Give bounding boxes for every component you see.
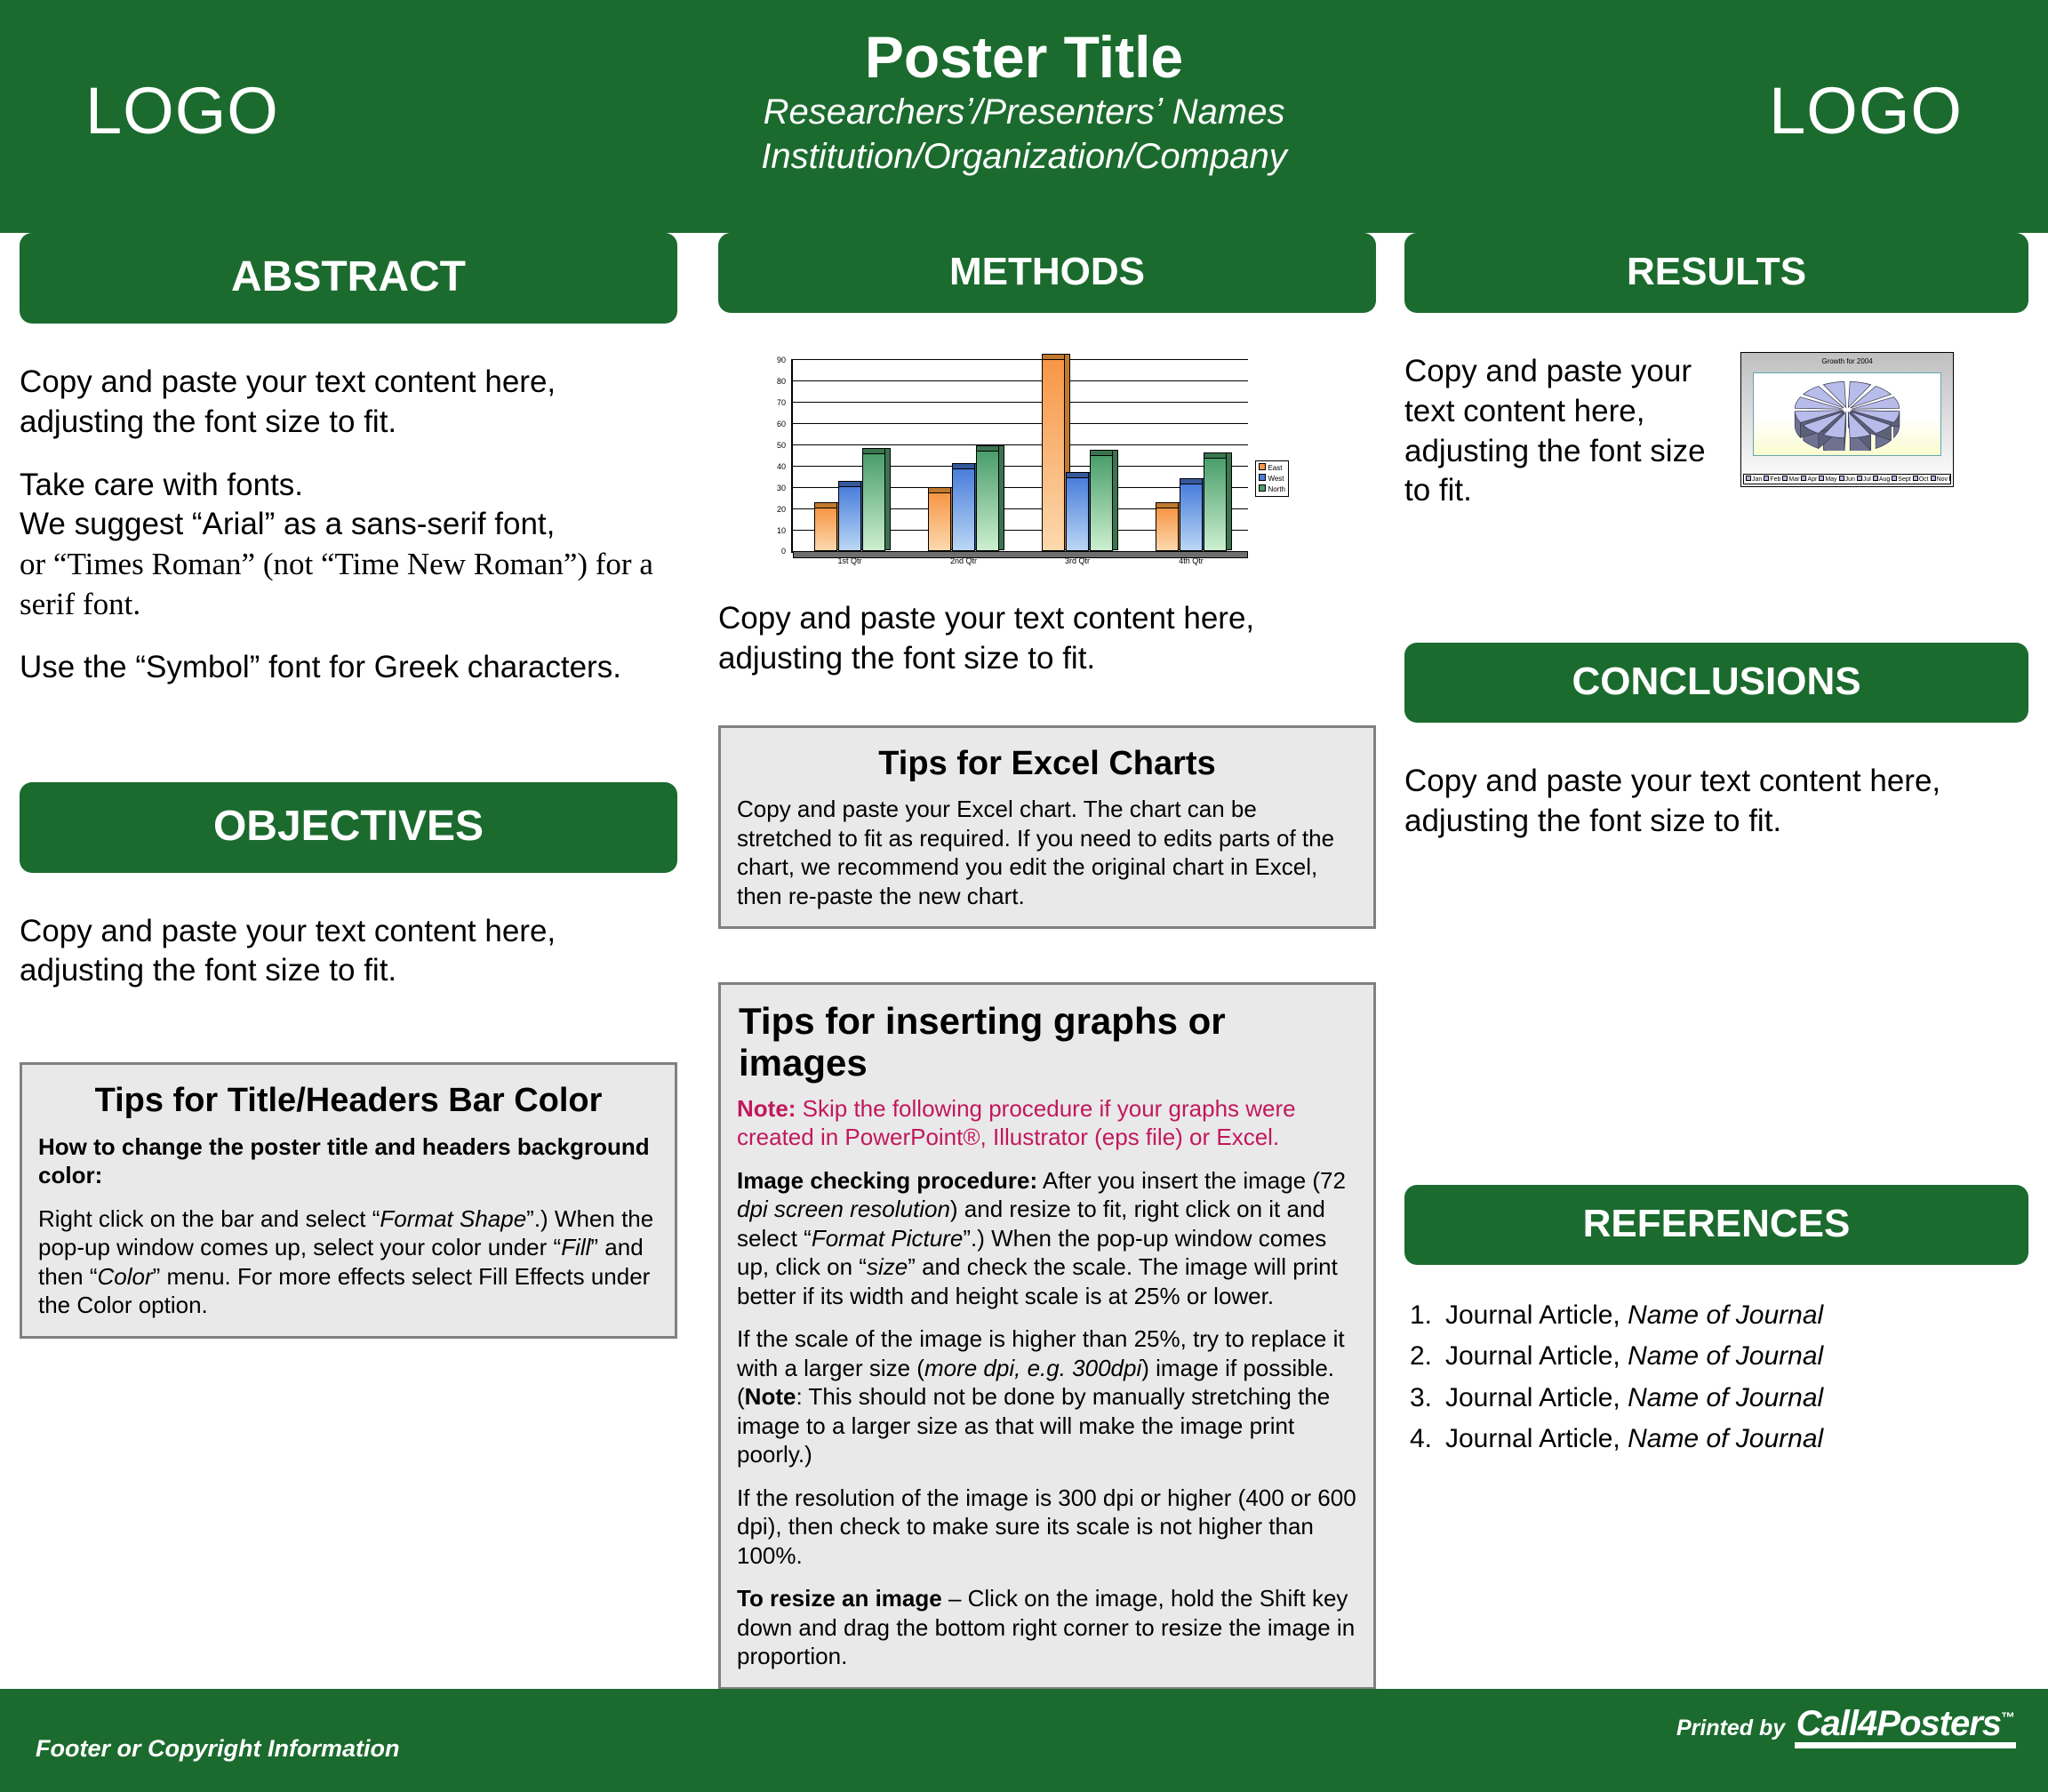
tips-title-bar-color-box: Tips for Title/Headers Bar Color How to … xyxy=(20,1062,677,1339)
p4-label: To resize an image xyxy=(737,1585,942,1612)
reference-journal-name: Name of Journal xyxy=(1628,1383,1823,1412)
reference-text: Journal Article, xyxy=(1445,1383,1628,1412)
tips-resize-paragraph: To resize an image – Click on the image,… xyxy=(737,1584,1357,1671)
bar-group: 1st Qtr xyxy=(793,359,907,551)
note-label: Note: xyxy=(737,1095,796,1122)
pie-chart-plot-area xyxy=(1753,372,1941,456)
poster-title[interactable]: Poster Title xyxy=(0,25,2048,91)
reference-number: 3. xyxy=(1410,1378,1432,1420)
tips-graphs-note: Note: Skip the following procedure if yo… xyxy=(737,1094,1357,1152)
abstract-fonts-line-3: or “Times Roman” (not “Time New Roman”) … xyxy=(20,547,653,621)
printed-by-label: Printed by xyxy=(1676,1716,1785,1740)
bar-north[interactable] xyxy=(1204,458,1227,551)
printed-by-block: Printed by Call4Posters™ xyxy=(1676,1705,2016,1748)
tips-excel-charts-heading: Tips for Excel Charts xyxy=(737,746,1357,783)
abstract-paragraph-3[interactable]: Use the “Symbol” font for Greek characte… xyxy=(20,648,677,688)
bar-east[interactable] xyxy=(814,508,837,551)
conclusions-paragraph-1[interactable]: Copy and paste your text content here, a… xyxy=(1404,762,2028,842)
y-tick-label: 30 xyxy=(777,484,786,492)
reference-number: 1. xyxy=(1410,1295,1432,1337)
legend-label: Nov xyxy=(1937,476,1948,483)
tips-title-bar-color-body: Right click on the bar and select “Forma… xyxy=(38,1204,659,1320)
y-tick-label: 90 xyxy=(777,356,786,364)
bar-groups: 1st Qtr2nd Qtr3rd Qtr4th Qtr xyxy=(793,359,1248,551)
abstract-fonts-line-2: We suggest “Arial” as a sans-serif font, xyxy=(20,507,555,541)
tip-seg-a: Right click on the bar and select “ xyxy=(38,1205,380,1232)
methods-chart-area: 90 80 70 60 50 40 30 20 10 0 1st Qtr2nd … xyxy=(718,347,1376,594)
x-tick-label: 4th Qtr xyxy=(1134,556,1248,565)
institution-name[interactable]: Institution/Organization/Company xyxy=(0,135,2048,180)
bar-group: 2nd Qtr xyxy=(907,359,1020,551)
pie-3d-graphic xyxy=(1781,378,1913,451)
bar-side-face xyxy=(1226,452,1232,550)
references-list: 1.Journal Article, Name of Journal2.Jour… xyxy=(1404,1295,2028,1460)
results-content-row: Copy and paste your text content here, a… xyxy=(1404,352,2028,511)
column-right: RESULTS Copy and paste your text content… xyxy=(1404,233,2028,1460)
note-body: Skip the following procedure if your gra… xyxy=(737,1095,1296,1151)
tips-resolution-paragraph: If the resolution of the image is 300 dp… xyxy=(737,1484,1357,1571)
legend-label: East xyxy=(1268,464,1282,472)
methods-caption[interactable]: Copy and paste your text content here, a… xyxy=(718,599,1376,679)
legend-label: Jan xyxy=(1752,476,1762,483)
results-chart-area: Growth for 2004 JanFebMarAprMayJunJulAug… xyxy=(1740,352,1954,487)
legend-swatch-icon xyxy=(1764,476,1769,481)
tips-image-checking-procedure: Image checking procedure: After you inse… xyxy=(737,1166,1357,1311)
p1-i2: Format Picture xyxy=(812,1225,964,1252)
legend-swatch-icon xyxy=(1782,476,1788,481)
bar-chart[interactable]: 90 80 70 60 50 40 30 20 10 0 1st Qtr2nd … xyxy=(736,347,1287,587)
column-middle: METHODS 90 80 70 60 50 40 30 20 10 0 1st… xyxy=(718,233,1376,1690)
p2-i1: more dpi, e.g. 300dpi xyxy=(924,1355,1141,1381)
bar-west[interactable] xyxy=(1180,484,1203,551)
abstract-paragraph-1[interactable]: Copy and paste your text content here, a… xyxy=(20,363,677,443)
tips-title-bar-color-heading: Tips for Title/Headers Bar Color xyxy=(38,1083,659,1120)
legend-label: Jun xyxy=(1845,476,1855,483)
tips-excel-charts-box: Tips for Excel Charts Copy and paste you… xyxy=(718,725,1376,930)
footer-copyright-text[interactable]: Footer or Copyright Information xyxy=(36,1735,399,1763)
abstract-fonts-line-1: Take care with fonts. xyxy=(20,468,303,502)
legend-swatch-icon xyxy=(1259,484,1266,492)
tips-scale-paragraph: If the scale of the image is higher than… xyxy=(737,1324,1357,1469)
legend-swatch-icon xyxy=(1801,476,1806,481)
researchers-names[interactable]: Researchersʼ/Presentersʼ Names xyxy=(0,91,2048,135)
legend-label: North xyxy=(1268,485,1285,493)
y-tick-label: 80 xyxy=(777,377,786,386)
reference-item[interactable]: 4.Journal Article, Name of Journal xyxy=(1404,1419,2028,1460)
legend-swatch-icon xyxy=(1949,476,1951,481)
reference-item[interactable]: 2.Journal Article, Name of Journal xyxy=(1404,1336,2028,1378)
title-block: Poster Title Researchersʼ/Presentersʼ Na… xyxy=(0,25,2048,179)
legend-swatch-icon xyxy=(1913,476,1918,481)
bar-chart-plot-area: 90 80 70 60 50 40 30 20 10 0 1st Qtr2nd … xyxy=(791,359,1248,553)
y-tick-label: 20 xyxy=(777,505,786,514)
trademark-symbol: ™ xyxy=(2001,1711,2014,1726)
reference-text: Journal Article, xyxy=(1445,1341,1628,1371)
tips-title-bar-color-lead: How to change the poster title and heade… xyxy=(38,1132,659,1190)
legend-swatch-icon xyxy=(1892,476,1897,481)
bar-north[interactable] xyxy=(1090,455,1113,551)
section-header-abstract[interactable]: ABSTRACT xyxy=(20,233,677,324)
legend-label: May xyxy=(1825,476,1836,483)
abstract-paragraph-2[interactable]: Take care with fonts. We suggest “Arial”… xyxy=(20,466,677,625)
legend-label: Oct xyxy=(1919,476,1929,483)
legend-entry-north: North xyxy=(1259,484,1285,495)
pie-chart-legend[interactable]: JanFebMarAprMayJunJulAugSeptOctNovDec xyxy=(1743,474,1951,484)
bar-east[interactable] xyxy=(1042,359,1065,551)
legend-swatch-icon xyxy=(1746,476,1751,481)
bar-west[interactable] xyxy=(952,468,975,551)
reference-item[interactable]: 3.Journal Article, Name of Journal xyxy=(1404,1378,2028,1420)
p1-label: Image checking procedure: xyxy=(737,1167,1037,1194)
column-left: ABSTRACT Copy and paste your text conten… xyxy=(20,233,677,1339)
bar-side-face xyxy=(998,445,1004,550)
x-tick-label: 2nd Qtr xyxy=(907,556,1020,565)
legend-swatch-icon xyxy=(1259,463,1266,470)
bar-group: 3rd Qtr xyxy=(1020,359,1134,551)
poster-header-band: LOGO LOGO Poster Title Researchersʼ/Pres… xyxy=(0,0,2048,233)
bar-north[interactable] xyxy=(862,453,885,551)
legend-label: West xyxy=(1268,475,1284,483)
legend-swatch-icon xyxy=(1259,474,1266,481)
bar-east[interactable] xyxy=(928,492,951,551)
bar-chart-legend[interactable]: EastWestNorth xyxy=(1255,460,1289,497)
p1-i3: size xyxy=(867,1253,908,1280)
reference-text: Journal Article, xyxy=(1445,1300,1628,1330)
bar-side-face xyxy=(884,448,891,550)
legend-swatch-icon xyxy=(1931,476,1936,481)
pie-chart[interactable]: Growth for 2004 JanFebMarAprMayJunJulAug… xyxy=(1740,352,1954,487)
results-paragraph-1[interactable]: Copy and paste your text content here, a… xyxy=(1404,352,1724,511)
bar-west[interactable] xyxy=(1066,477,1089,551)
p2-c: : This should not be done by manually st… xyxy=(737,1383,1330,1468)
call4posters-logo[interactable]: Call4Posters™ xyxy=(1795,1705,2016,1748)
bar-west[interactable] xyxy=(838,486,861,551)
tips-excel-charts-body: Copy and paste your Excel chart. The cha… xyxy=(737,795,1357,910)
x-tick-label: 1st Qtr xyxy=(793,556,907,565)
bar-east[interactable] xyxy=(1156,508,1179,551)
y-tick-label: 40 xyxy=(777,462,786,471)
section-header-conclusions[interactable]: CONCLUSIONS xyxy=(1404,643,2028,723)
section-header-references[interactable]: REFERENCES xyxy=(1404,1185,2028,1265)
bar-group: 4th Qtr xyxy=(1134,359,1248,551)
tips-graphs-images-box: Tips for inserting graphs or images Note… xyxy=(718,982,1376,1689)
poster-footer-band: Footer or Copyright Information Printed … xyxy=(0,1689,2048,1792)
section-header-results[interactable]: RESULTS xyxy=(1404,233,2028,313)
reference-text: Journal Article, xyxy=(1445,1424,1628,1453)
pie-chart-title: Growth for 2004 xyxy=(1741,357,1953,365)
p1-a: After you insert the image (72 xyxy=(1037,1167,1346,1194)
p2-note: Note xyxy=(745,1383,796,1410)
legend-label: Aug xyxy=(1879,476,1890,483)
reference-journal-name: Name of Journal xyxy=(1628,1300,1823,1330)
poster-body: ABSTRACT Copy and paste your text conten… xyxy=(0,233,2048,1689)
reference-number: 4. xyxy=(1410,1419,1432,1460)
y-tick-label: 10 xyxy=(777,526,786,535)
legend-swatch-icon xyxy=(1873,476,1878,481)
reference-item[interactable]: 1.Journal Article, Name of Journal xyxy=(1404,1295,2028,1337)
legend-label: Apr xyxy=(1807,476,1817,483)
p1-i1: dpi screen resolution xyxy=(737,1196,950,1222)
section-header-methods[interactable]: METHODS xyxy=(718,233,1376,313)
section-header-objectives[interactable]: OBJECTIVES xyxy=(20,782,677,873)
tip-seg-c-i: Color xyxy=(98,1263,153,1290)
legend-label: Sept xyxy=(1898,476,1910,483)
legend-entry-east: East xyxy=(1259,463,1285,474)
y-tick-label: 50 xyxy=(777,441,786,450)
y-tick-label: 60 xyxy=(777,420,786,428)
y-tick-label: 0 xyxy=(781,547,786,556)
legend-label: Feb xyxy=(1770,476,1780,483)
objectives-paragraph-1[interactable]: Copy and paste your text content here, a… xyxy=(20,912,677,992)
reference-journal-name: Name of Journal xyxy=(1628,1424,1823,1453)
reference-number: 2. xyxy=(1410,1336,1432,1378)
tip-seg-a-i: Format Shape xyxy=(380,1205,526,1232)
bar-north[interactable] xyxy=(976,451,999,551)
legend-entry-west: West xyxy=(1259,474,1285,484)
reference-journal-name: Name of Journal xyxy=(1628,1341,1823,1371)
legend-label: Jul xyxy=(1863,476,1871,483)
legend-swatch-icon xyxy=(1839,476,1844,481)
legend-swatch-icon xyxy=(1857,476,1862,481)
legend-label: Mar xyxy=(1788,476,1799,483)
tips-lead-bold: How to change the poster title and heade… xyxy=(38,1133,650,1189)
tip-seg-b-i: Fill xyxy=(561,1234,590,1260)
legend-swatch-icon xyxy=(1819,476,1824,481)
bar-side-face xyxy=(1112,450,1118,550)
y-tick-label: 70 xyxy=(777,398,786,407)
tips-graphs-images-heading: Tips for inserting graphs or images xyxy=(739,1001,1357,1083)
brand-name: Call4Posters xyxy=(1796,1704,2001,1743)
x-tick-label: 3rd Qtr xyxy=(1020,556,1134,565)
